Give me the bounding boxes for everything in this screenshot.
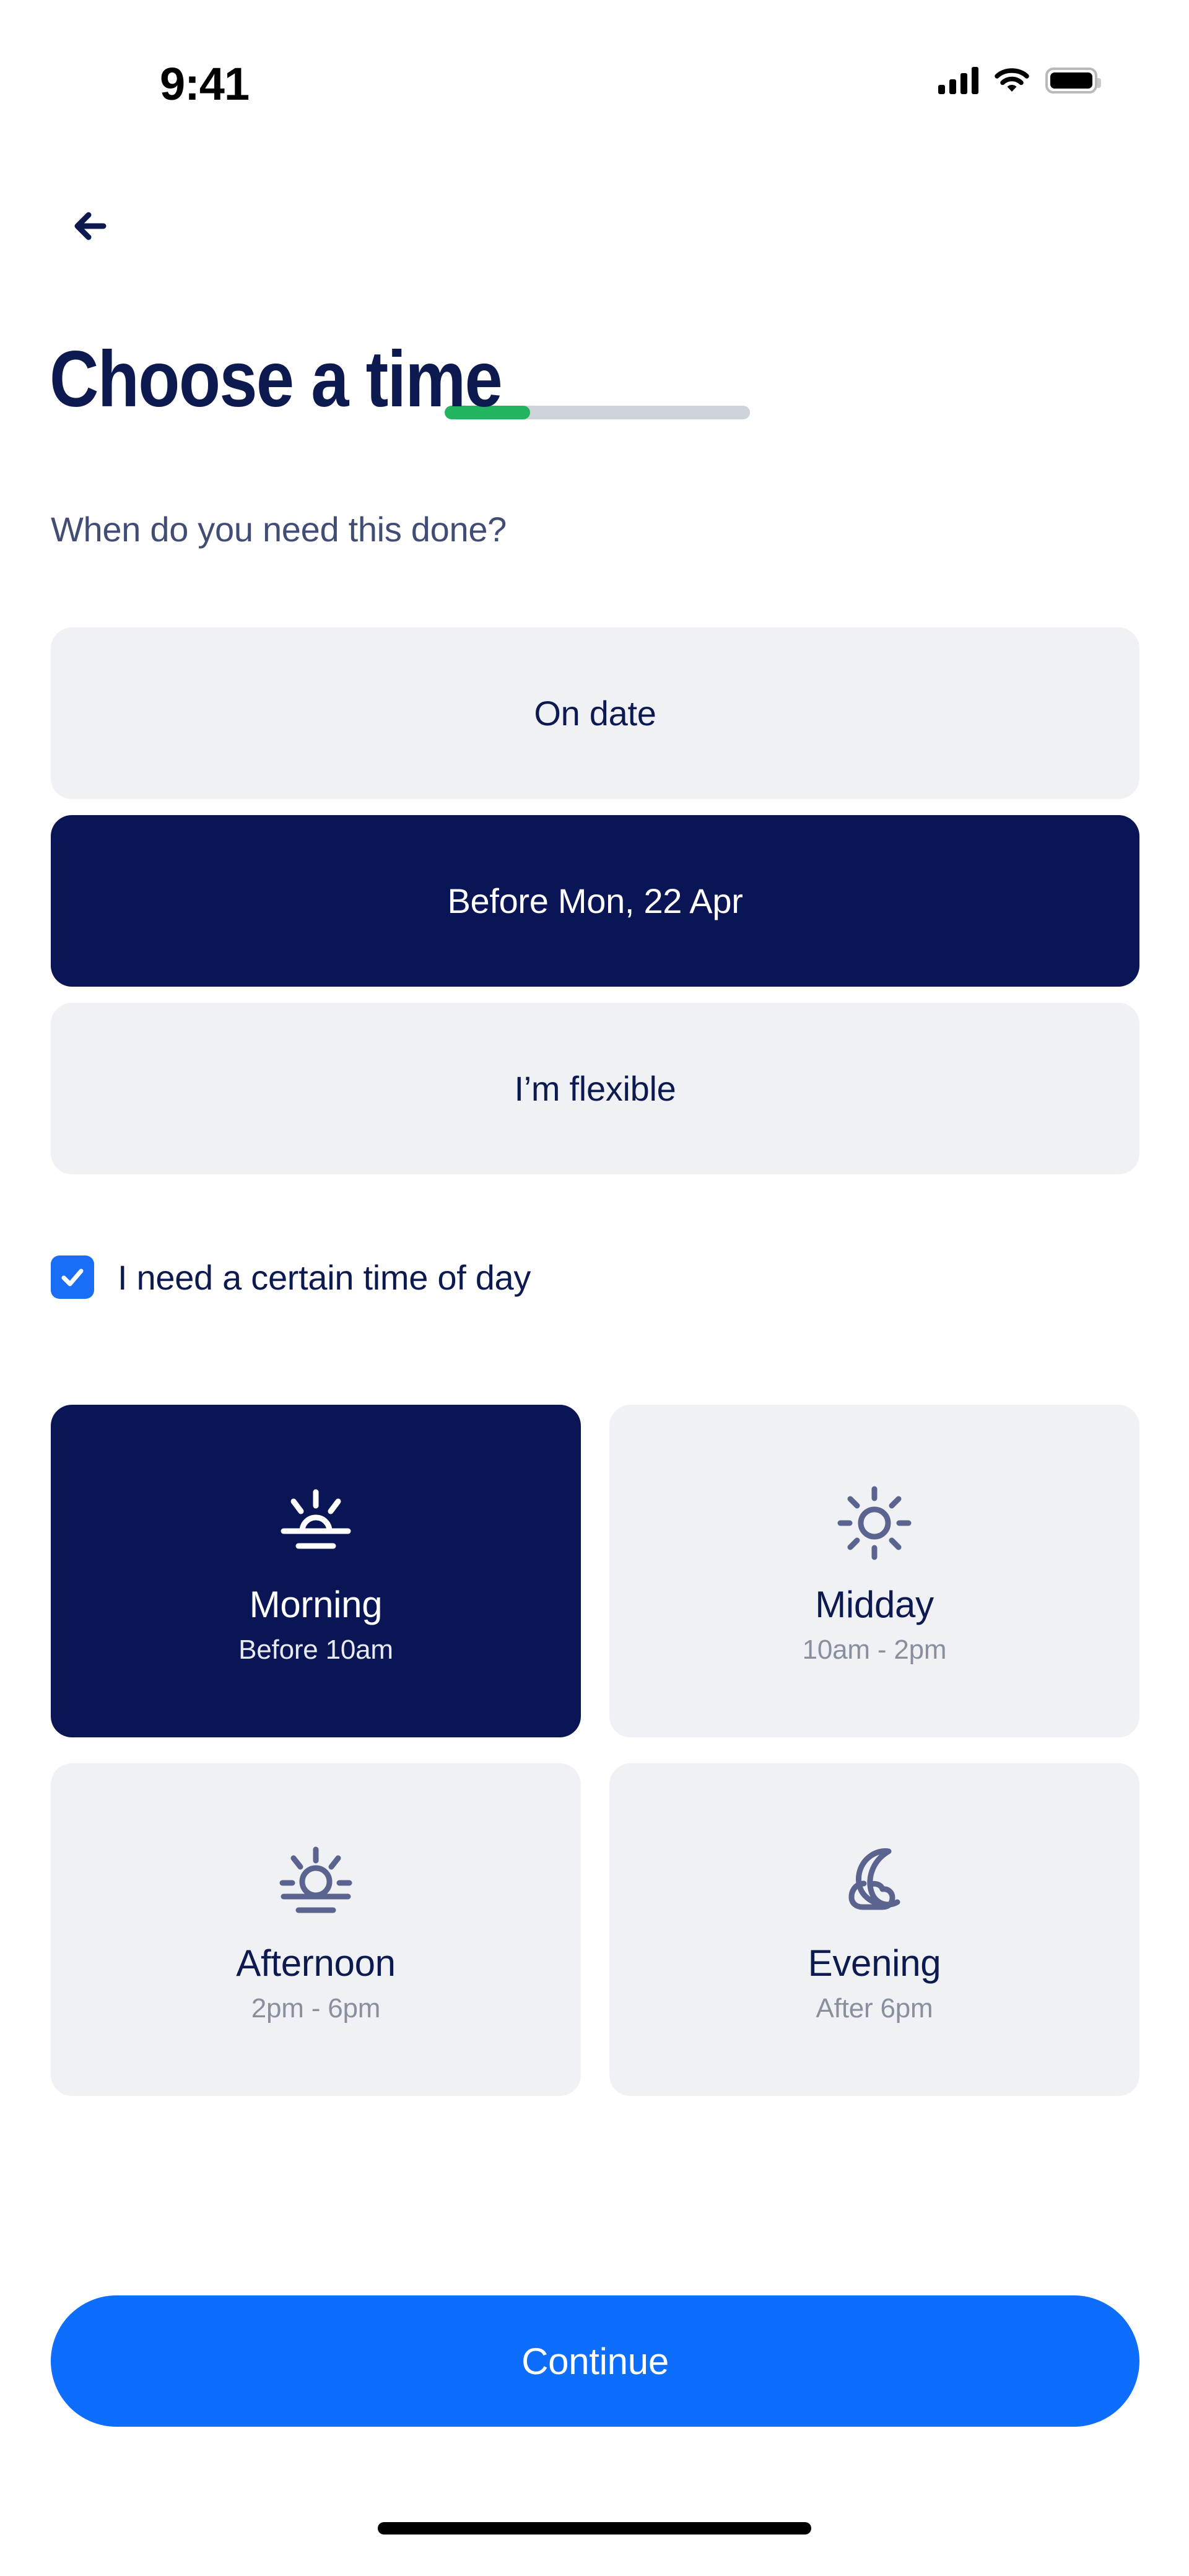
time-of-day-card-afternoon[interactable]: Afternoon 2pm - 6pm (51, 1763, 581, 2096)
moon-icon (835, 1835, 913, 1928)
time-of-day-card-midday[interactable]: Midday 10am - 2pm (609, 1405, 1139, 1737)
status-bar-time: 9:41 (160, 58, 249, 110)
time-of-day-card-title: Midday (815, 1583, 934, 1626)
arrow-left-icon (68, 203, 114, 249)
time-of-day-card-subtitle: 2pm - 6pm (251, 1993, 381, 2024)
time-of-day-card-subtitle: After 6pm (816, 1993, 933, 2024)
timing-option-flexible[interactable]: I’m flexible (51, 1003, 1139, 1174)
cellular-signal-icon (938, 67, 978, 94)
time-of-day-card-title: Evening (808, 1942, 941, 1984)
wifi-icon (995, 67, 1029, 94)
home-indicator (378, 2522, 811, 2535)
sunset-icon (275, 1835, 357, 1928)
status-bar-icons (938, 67, 1097, 94)
time-of-day-card-morning[interactable]: Morning Before 10am (51, 1405, 581, 1737)
time-of-day-card-evening[interactable]: Evening After 6pm (609, 1763, 1139, 2096)
sun-icon (835, 1477, 913, 1570)
page-subtitle: When do you need this done? (51, 509, 507, 549)
nav-row (0, 186, 1189, 273)
time-of-day-card-subtitle: Before 10am (238, 1635, 393, 1666)
back-button[interactable] (51, 186, 131, 266)
time-of-day-checkbox-row[interactable]: I need a certain time of day (51, 1246, 531, 1308)
check-icon (59, 1264, 86, 1291)
time-of-day-card-subtitle: 10am - 2pm (803, 1635, 947, 1666)
time-of-day-card-title: Morning (250, 1583, 383, 1626)
time-of-day-checkbox[interactable] (51, 1255, 94, 1299)
page-title: Choose a time (50, 339, 502, 421)
timing-option-before-date[interactable]: Before Mon, 22 Apr (51, 815, 1139, 987)
time-of-day-checkbox-label: I need a certain time of day (118, 1257, 531, 1298)
timing-option-on-date[interactable]: On date (51, 627, 1139, 799)
battery-icon (1045, 68, 1097, 94)
time-of-day-grid: Morning Before 10am Midday 10am - 2pm (51, 1405, 1139, 2096)
time-of-day-card-title: Afternoon (236, 1942, 396, 1984)
sunrise-icon (275, 1477, 357, 1570)
continue-button[interactable]: Continue (51, 2295, 1139, 2427)
status-bar: 9:41 (0, 0, 1189, 155)
